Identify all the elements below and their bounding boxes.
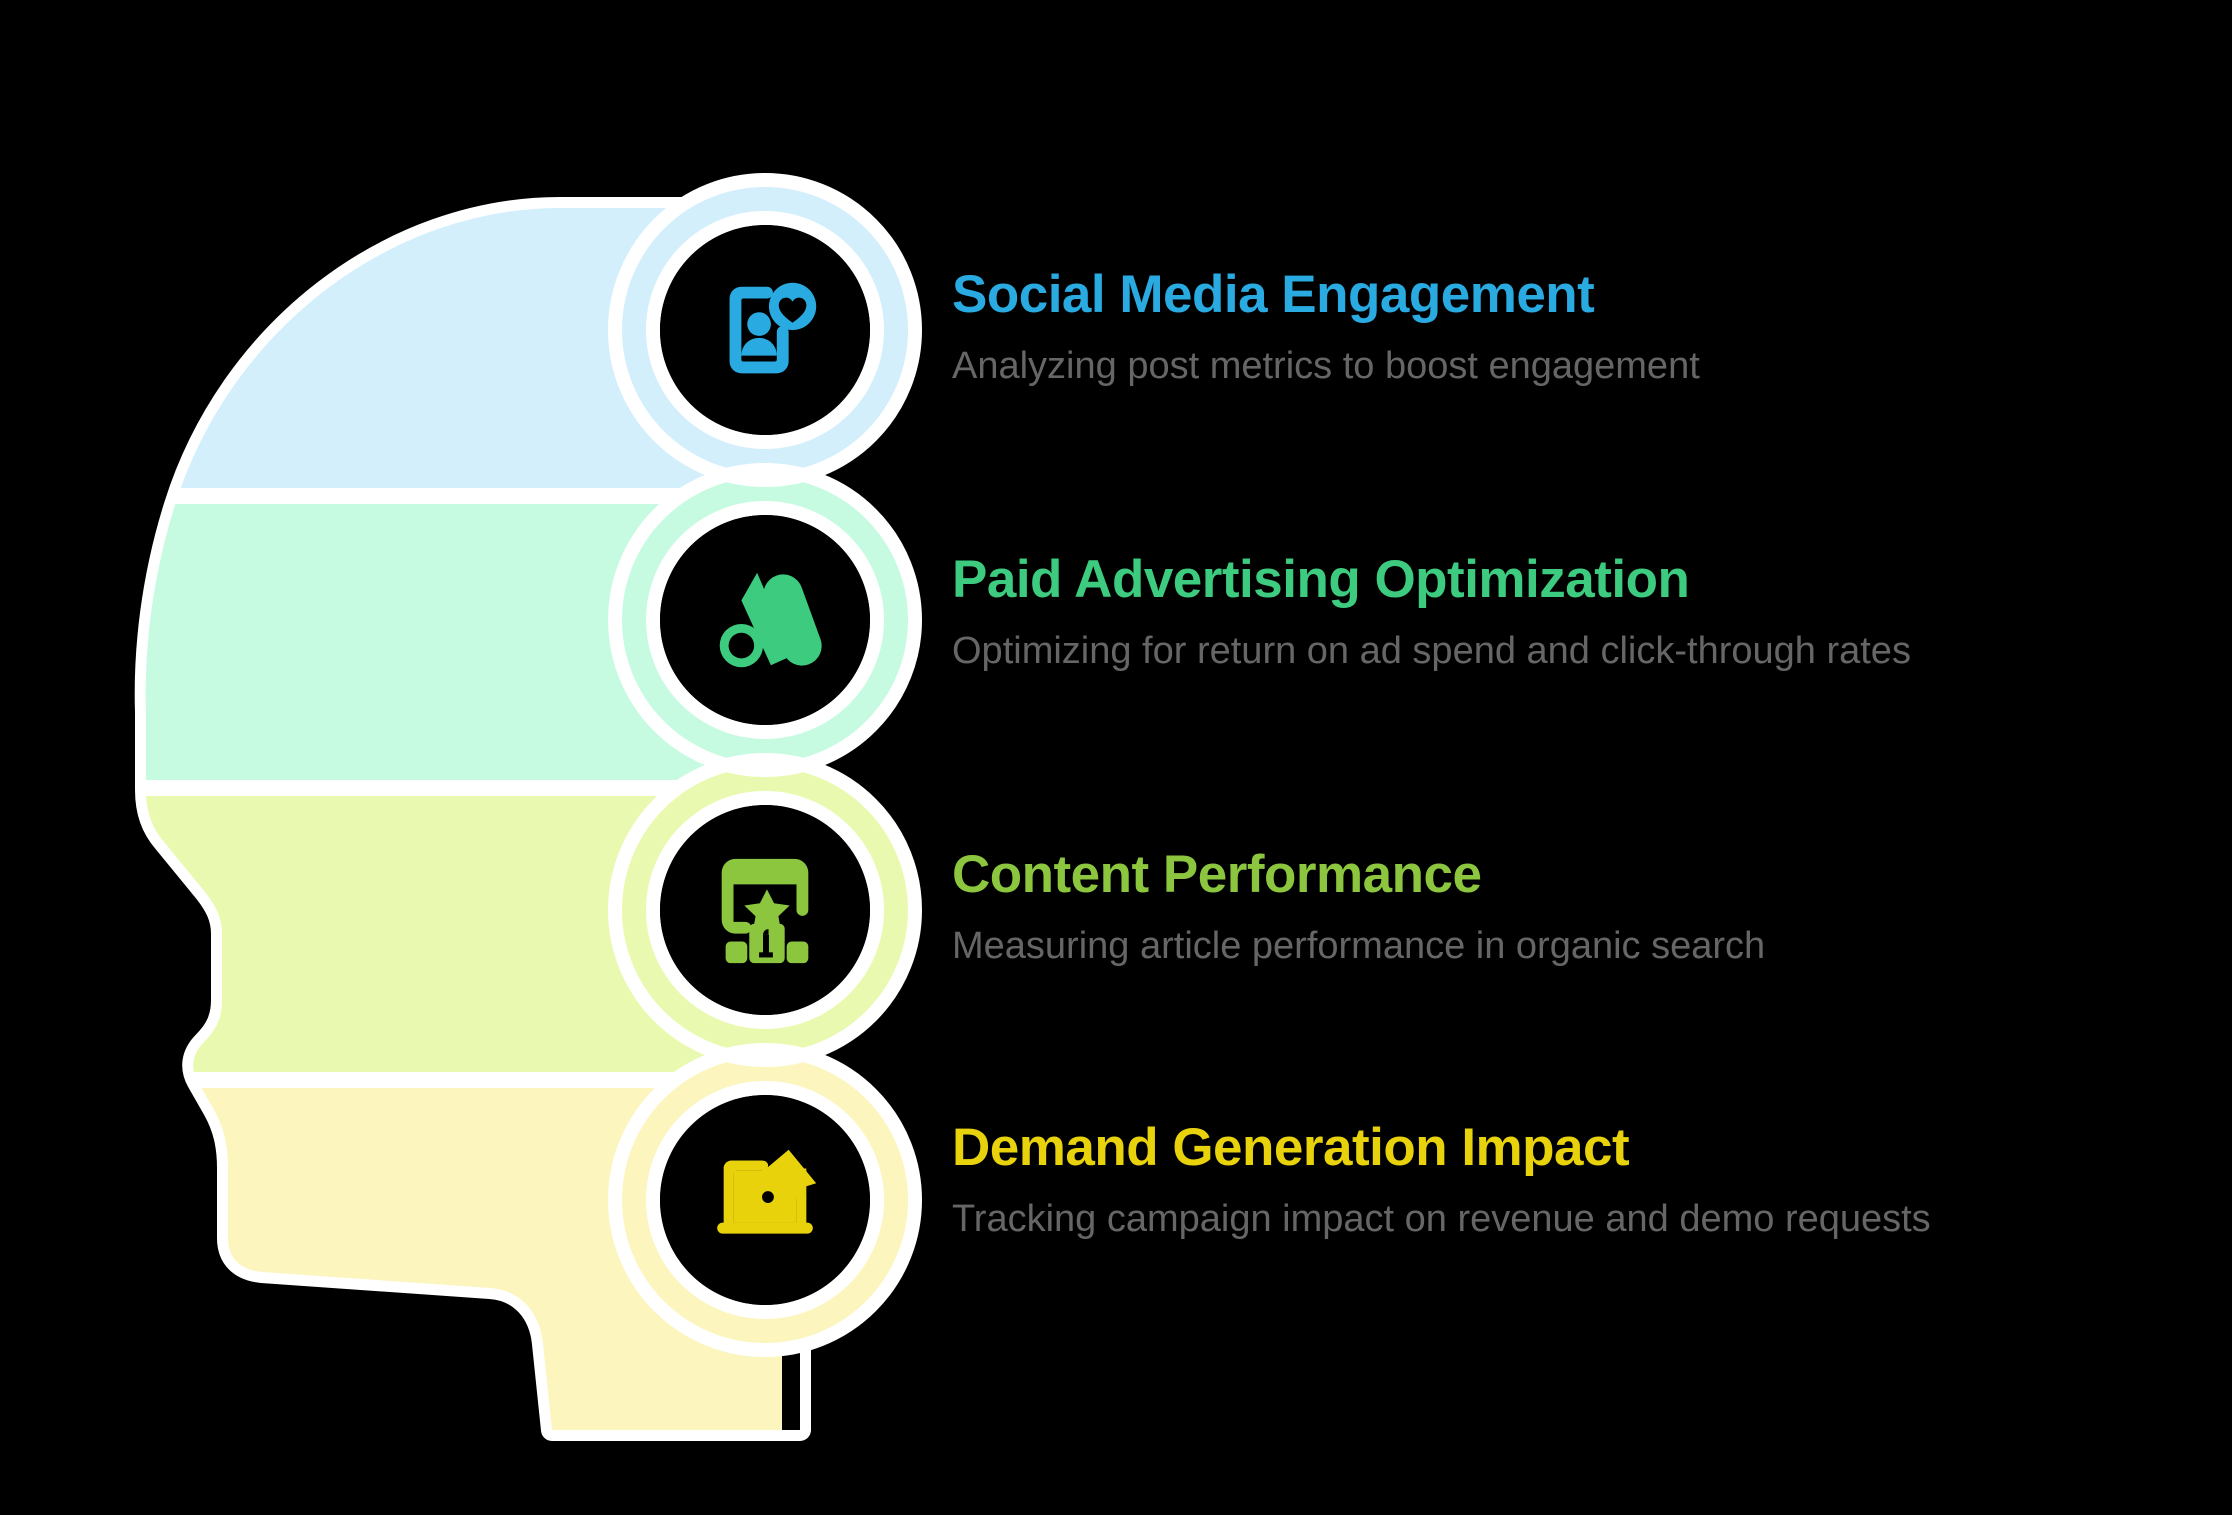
list-item: Paid Advertising Optimization Optimizing… [952, 550, 2232, 676]
item-title: Social Media Engagement [952, 265, 2232, 324]
item-description: Measuring article performance in organic… [952, 922, 2132, 971]
list-item: Content Performance Measuring article pe… [952, 845, 2232, 971]
item-description: Tracking campaign impact on revenue and … [952, 1195, 2092, 1244]
item-title: Paid Advertising Optimization [952, 550, 2232, 609]
item-title: Content Performance [952, 845, 2232, 904]
list-item: Demand Generation Impact Tracking campai… [952, 1118, 2232, 1244]
item-title: Demand Generation Impact [952, 1118, 2232, 1177]
infographic-canvas: Social Media Engagement Analyzing post m… [0, 0, 2232, 1515]
item-description: Analyzing post metrics to boost engageme… [952, 342, 2132, 391]
list-item: Social Media Engagement Analyzing post m… [952, 265, 2232, 391]
item-description: Optimizing for return on ad spend and cl… [952, 627, 1982, 676]
items-list: Social Media Engagement Analyzing post m… [0, 0, 2232, 1515]
